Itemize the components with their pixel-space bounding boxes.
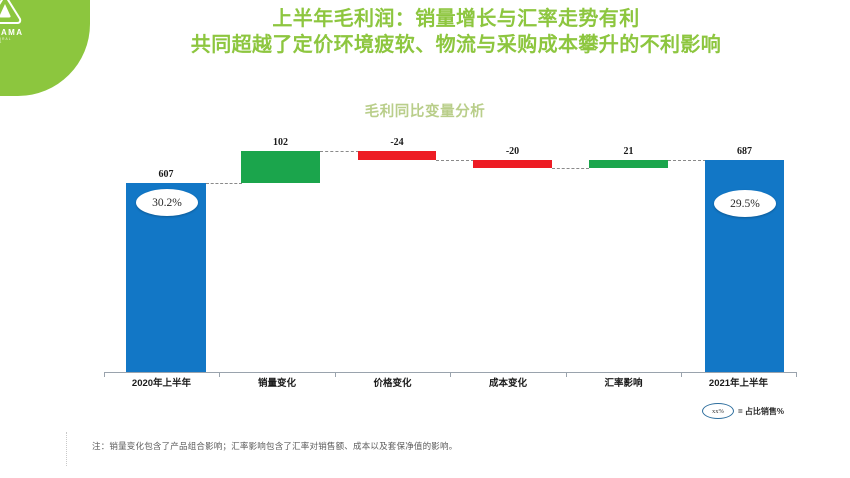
- value-label-cost-change: -20: [473, 146, 552, 158]
- connector-5: [668, 160, 706, 161]
- value-label-volume-change: 102: [241, 137, 320, 149]
- value-label-price-change: -24: [358, 137, 436, 149]
- category-label-price-change: 价格变化: [335, 378, 450, 390]
- bar-cost-change[interactable]: [473, 160, 552, 168]
- connector-2: [320, 151, 359, 152]
- percent-bubble-2020-h1: 30.2%: [136, 189, 198, 216]
- category-label-2020-h1: 2020年上半年: [104, 378, 219, 390]
- connector-4: [552, 168, 589, 169]
- axis-tick-6: [796, 372, 797, 377]
- bar-volume-change[interactable]: [241, 151, 320, 183]
- value-label-fx-impact: 21: [589, 146, 668, 158]
- axis-tick-0: [104, 372, 105, 377]
- category-label-2021-h1: 2021年上半年: [681, 378, 796, 390]
- value-label-2020-h1: 607: [126, 169, 206, 181]
- category-label-cost-change: 成本变化: [450, 378, 566, 390]
- legend-bubble-icon: xx%: [702, 403, 734, 419]
- axis-tick-1: [219, 372, 220, 377]
- footnote-text: 注：销量变化包含了产品组合影响；汇率影响包含了汇率对销售额、成本以及套保净值的影…: [92, 440, 457, 452]
- waterfall-chart: 607 102 -24 -20 21 687 30.2% 29.5% 2020年…: [0, 0, 850, 478]
- percent-bubble-2021-h1: 29.5%: [714, 190, 776, 217]
- category-label-volume-change: 销量变化: [219, 378, 335, 390]
- legend-label: = 占比销售%: [738, 406, 784, 417]
- category-label-fx-impact: 汇率影响: [566, 378, 681, 390]
- bar-fx-impact[interactable]: [589, 160, 668, 168]
- connector-1: [206, 183, 242, 184]
- axis-tick-2: [335, 372, 336, 377]
- chart-legend: xx% = 占比销售%: [702, 403, 784, 419]
- axis-tick-4: [566, 372, 567, 377]
- footnote-divider: [66, 432, 67, 466]
- connector-3: [436, 160, 474, 161]
- value-label-2021-h1: 687: [705, 146, 784, 158]
- axis-tick-3: [450, 372, 451, 377]
- bar-price-change[interactable]: [358, 151, 436, 160]
- slide-canvas: ADAMA AGRICULTURAL SOLUTIONS 上半年毛利润：销量增长…: [0, 0, 850, 478]
- axis-tick-5: [681, 372, 682, 377]
